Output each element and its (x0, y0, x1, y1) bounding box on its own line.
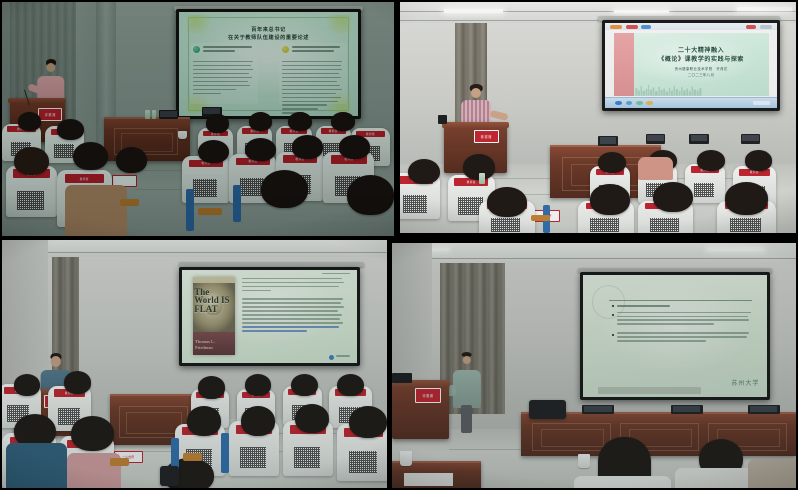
desk-monitor (748, 405, 780, 415)
audience-head (697, 150, 725, 171)
presenter-head (462, 356, 470, 364)
bullet-marker (612, 305, 614, 307)
projector-screen: The World IS FLAT Thomas L. Friedman (179, 267, 360, 366)
slide2-date-line: 二〇二三年八月 (641, 73, 760, 78)
audience-head (187, 406, 222, 436)
audience-head (18, 112, 42, 131)
audience-head (347, 175, 394, 215)
browser-tab (626, 25, 638, 29)
slide1-title-line2: 在关于教师队伍建设的重要论述 (188, 35, 348, 43)
chair-armrest (183, 453, 202, 460)
handbag (160, 466, 179, 486)
chair-frame (233, 185, 241, 222)
audience-head (57, 119, 84, 140)
audience-head (288, 112, 312, 131)
podium-nameplate: 评委席 (38, 108, 62, 122)
projector-screen: 苏州大学 (580, 272, 770, 399)
audience-head (198, 376, 225, 398)
audience-head (653, 182, 693, 212)
podium-nameplate-text: 参赛席 (481, 134, 492, 139)
audience-head (64, 371, 91, 393)
presenter-head (46, 63, 55, 72)
audience-head (71, 416, 113, 451)
audience-head (487, 187, 527, 217)
desk-monitor (671, 405, 703, 415)
paper-cup (400, 451, 412, 466)
university-logo-text: 苏州大学 (731, 378, 759, 387)
chair-armrest (198, 208, 222, 215)
audience-torso (65, 185, 128, 236)
audience-head (116, 147, 147, 173)
presenter-laptop[interactable] (438, 115, 448, 124)
slide-content: 二十大精神融入 《概论》课教学的实践与探索 贵州健康职业技术学院 许荷花 二〇二… (605, 23, 777, 107)
taskbar-icon[interactable] (646, 101, 653, 106)
panel-top-left: 百年来总书记 在关于教师队伍建设的重要论述 (2, 2, 394, 236)
taskbar-icon[interactable] (626, 101, 633, 106)
window-control[interactable] (760, 25, 772, 29)
audience-torso (638, 157, 674, 180)
book-cover-image: The World IS FLAT Thomas L. Friedman (193, 277, 235, 355)
slide1-title-line1: 百年来总书记 (188, 27, 348, 35)
projector-screen: 百年来总书记 在关于教师队伍建设的重要论述 (176, 9, 360, 119)
photo-collage: 百年来总书记 在关于教师队伍建设的重要论述 (0, 0, 798, 490)
audience-torso (574, 476, 671, 488)
ceiling-light (614, 10, 669, 13)
slide-content: 苏州大学 (583, 275, 767, 396)
audience-head (245, 374, 272, 396)
podium: 评委席 (392, 380, 449, 439)
desk-monitor (598, 136, 618, 146)
papers (404, 473, 452, 485)
taskbar-icon[interactable] (615, 101, 622, 106)
audience-head (745, 150, 773, 171)
presenter-laptop[interactable] (392, 373, 412, 383)
slide-logo-icon (329, 355, 334, 360)
audience-head (206, 114, 230, 133)
slide-stage: 二十大精神融入 《概论》课教学的实践与探索 贵州健康职业技术学院 许荷花 二〇二… (605, 30, 777, 98)
chair-armrest (120, 199, 140, 206)
audience-head (14, 374, 41, 396)
podium-nameplate: 评委席 (415, 388, 442, 403)
presenter-legs (461, 405, 473, 433)
paper-cup (578, 454, 590, 469)
audience-torso (6, 443, 68, 488)
chair-armrest (531, 215, 551, 222)
audience-head (339, 135, 370, 158)
browser-tab (746, 25, 756, 29)
book-title-text: The World IS FLAT (194, 288, 233, 314)
panel-bottom-left: The World IS FLAT Thomas L. Friedman (2, 240, 387, 488)
podium-nameplate: 参赛席 (474, 130, 499, 143)
audience-head (241, 406, 276, 436)
audience-head (590, 184, 630, 214)
paper-cup (178, 131, 187, 139)
water-bottle (479, 173, 485, 185)
podium-nameplate-text: 评委席 (45, 112, 56, 117)
slide1-bullet-right-dot (282, 46, 289, 53)
slide2-title-line1: 二十大精神融入 (641, 47, 760, 56)
presenter-head (471, 88, 481, 98)
desk-monitor (741, 134, 761, 144)
panel-bottom-right: 苏州大学 评委席 (392, 243, 796, 488)
presenter (453, 353, 481, 431)
presenter-torso (453, 370, 481, 408)
book-author-text: Thomas L. Friedman (195, 339, 232, 350)
water-bottle (152, 110, 157, 119)
audience-head (349, 406, 388, 438)
panel-top-right: 二十大精神融入 《概论》课教学的实践与探索 贵州健康职业技术学院 许荷花 二〇二… (400, 2, 796, 233)
desk-monitor (646, 134, 666, 144)
chair-frame (186, 189, 194, 231)
skyline-graphic (634, 82, 703, 96)
audience-head (249, 112, 273, 131)
audience-head (337, 374, 364, 396)
audience-head (14, 147, 49, 175)
app-taskbar (605, 97, 777, 107)
audience-head (245, 138, 276, 161)
audience-head (295, 404, 330, 434)
slide4-footer-bar (598, 387, 701, 394)
audience-head (292, 135, 323, 158)
audience-head (598, 152, 626, 173)
chair-armrest (110, 458, 129, 465)
audience-torso (748, 459, 796, 488)
audience-head (291, 374, 318, 396)
slide-accent-bar (614, 33, 634, 96)
water-bottle (145, 110, 150, 119)
podium-nameplate-text: 评委席 (422, 393, 433, 398)
taskbar-clock (753, 101, 770, 105)
taskbar-icon[interactable] (636, 101, 643, 106)
ceiling-light (737, 7, 792, 11)
slide1-bullet-left-dot (193, 46, 200, 53)
desk-monitor (159, 110, 179, 119)
audience-head (261, 170, 308, 207)
audience-head (408, 159, 440, 184)
chair-frame (221, 433, 229, 473)
desk-monitor (582, 405, 614, 415)
audience-head (331, 112, 355, 131)
slide4-body-text (612, 305, 752, 378)
presenter-head (51, 356, 61, 366)
ppt-title-slide: 二十大精神融入 《概论》课教学的实践与探索 贵州健康职业技术学院 许荷花 二〇二… (614, 33, 769, 96)
desk-monitor (689, 134, 709, 144)
projector-screen: 二十大精神融入 《概论》课教学的实践与探索 贵州健康职业技术学院 许荷花 二〇二… (602, 20, 780, 110)
slide-content: The World IS FLAT Thomas L. Friedman (182, 270, 357, 363)
laptop-bag (529, 400, 565, 420)
ceiling-light (707, 247, 764, 251)
ceiling-light (444, 9, 503, 13)
audience-head (73, 142, 108, 170)
audience-head (198, 140, 229, 163)
slide-content: 百年来总书记 在关于教师队伍建设的重要论述 (179, 12, 357, 116)
browser-tab (641, 25, 651, 29)
audience-head (725, 182, 769, 214)
bullet-marker (612, 314, 614, 316)
slide2-title-line2: 《概论》课教学的实践与探索 (641, 56, 760, 65)
browser-tab (610, 25, 622, 29)
bullet-marker (612, 334, 614, 336)
slide3-body-text (242, 278, 347, 356)
